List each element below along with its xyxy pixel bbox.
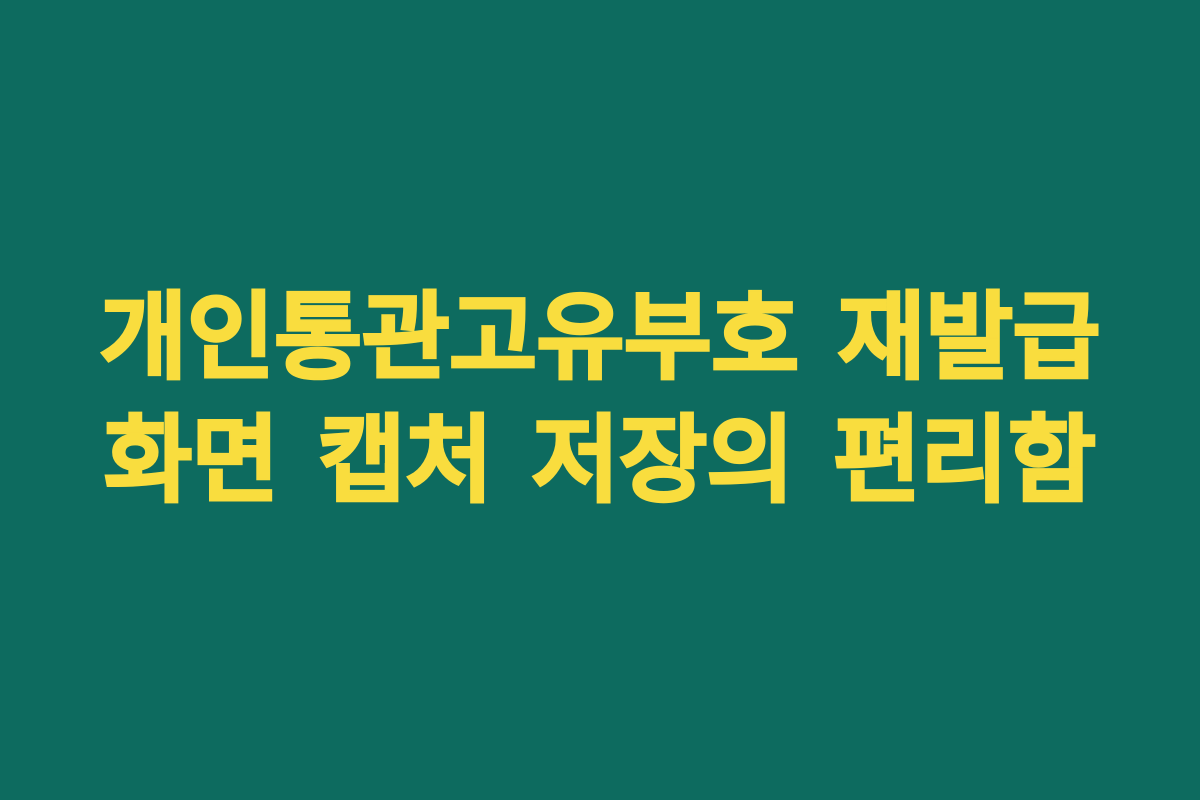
banner-canvas: 개인통관고유부호 재발급 화면 캡처 저장의 편리함: [0, 0, 1200, 800]
headline-text: 개인통관고유부호 재발급 화면 캡처 저장의 편리함: [95, 277, 1105, 523]
